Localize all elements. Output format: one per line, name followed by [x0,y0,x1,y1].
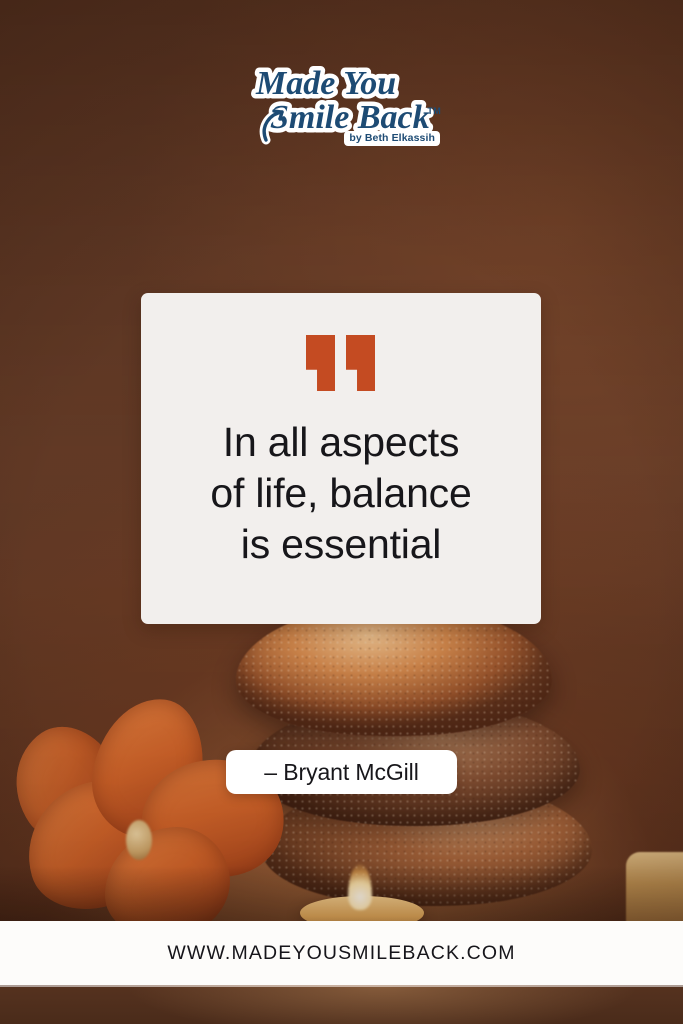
quote-card: In all aspects of life, balance is essen… [141,293,541,624]
logo-byline: by Beth Elkassih [344,131,440,146]
quote-glyph-left [306,335,335,391]
double-quote-icon [306,335,376,391]
quote-glyph-right [346,335,375,391]
quote-text: In all aspects of life, balance is essen… [161,417,521,569]
brand-logo[interactable]: Made You Made You Smile Back Smile Back … [248,56,442,150]
website-url[interactable]: WWW.MADEYOUSMILEBACK.COM [167,942,515,965]
logo-line1-fill: Made You [255,65,396,102]
quote-line-3: is essential [161,519,521,570]
quote-line-2: of life, balance [161,468,521,519]
author-pill: – Bryant McGill [226,750,457,794]
quote-line-1: In all aspects [161,417,521,468]
trademark-symbol: TM [427,106,441,116]
author-name: – Bryant McGill [264,759,418,786]
bottom-photo-strip [0,987,683,1024]
pinterest-quote-graphic: Made You Made You Smile Back Smile Back … [0,0,683,1024]
footer-bar: WWW.MADEYOUSMILEBACK.COM [0,921,683,985]
